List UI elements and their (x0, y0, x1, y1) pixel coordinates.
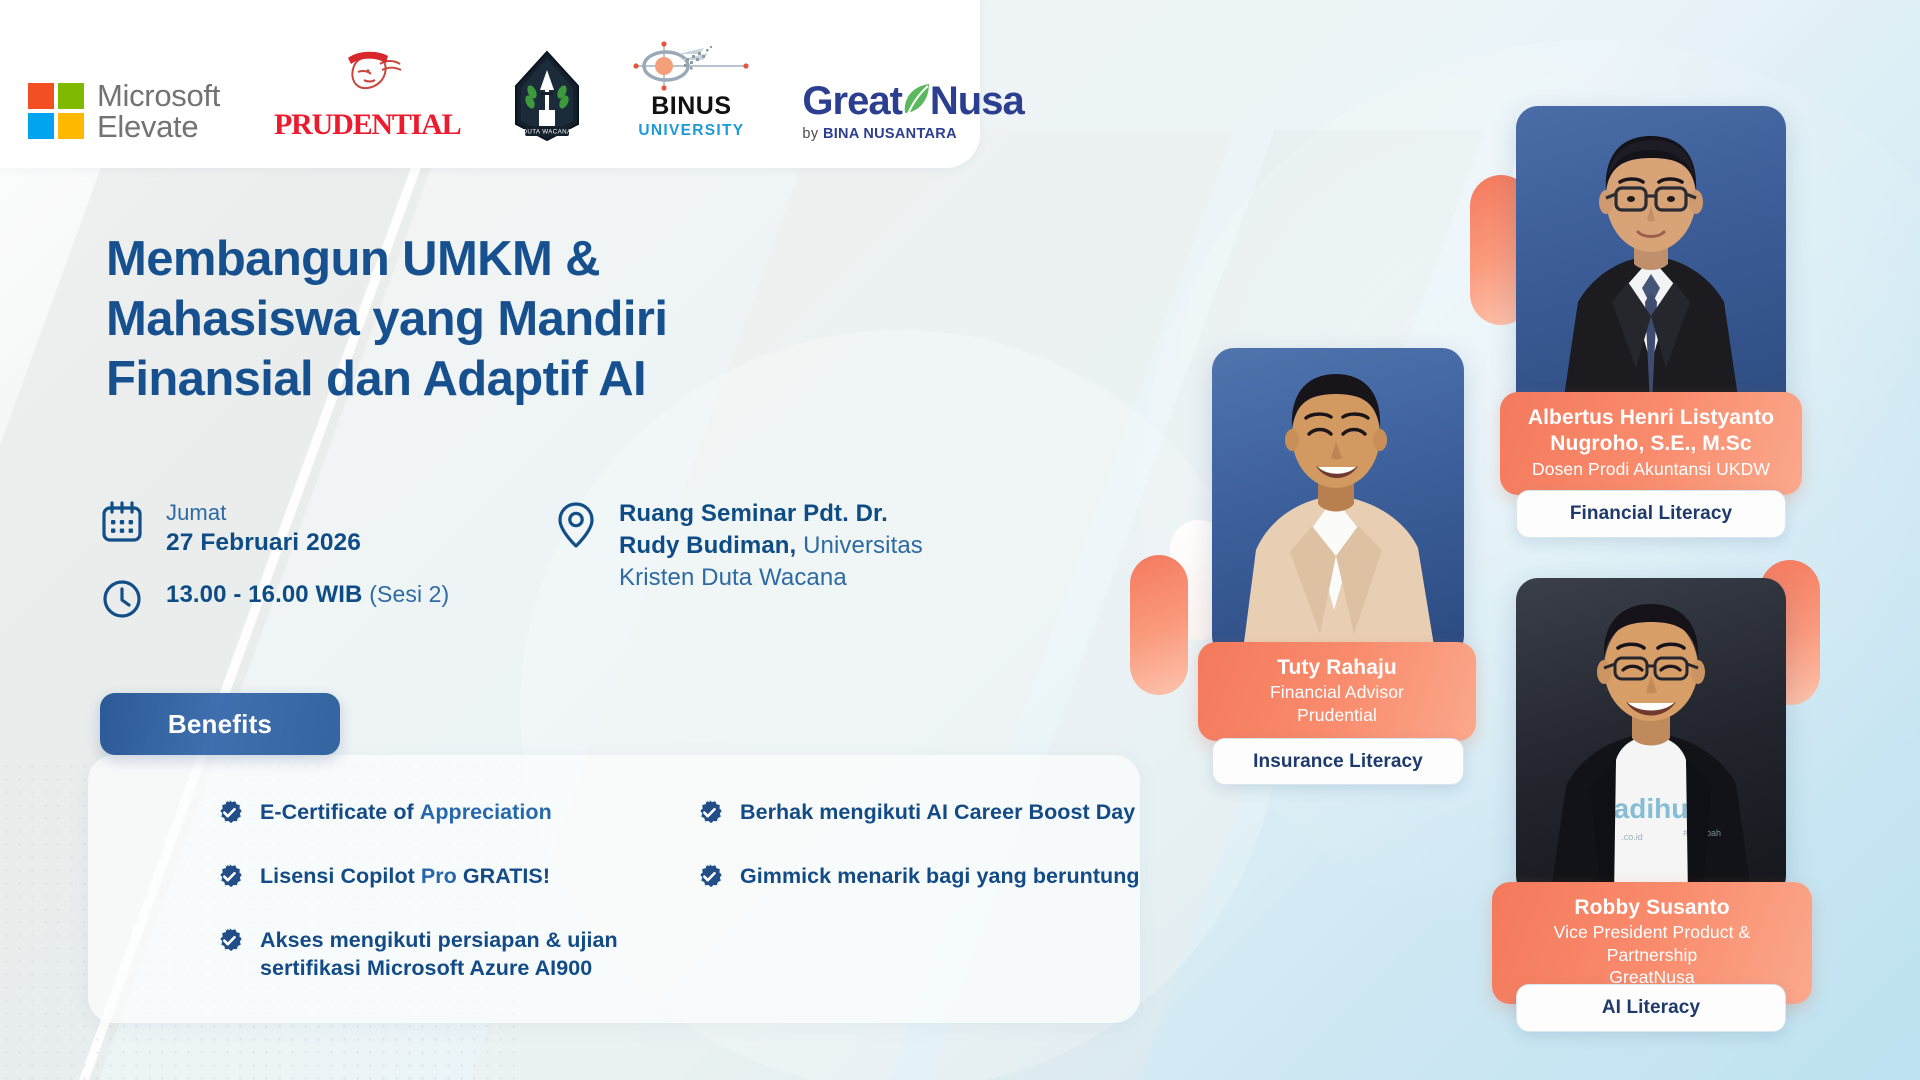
speaker-nameplate-albertus: Albertus Henri Listyanto Nugroho, S.E., … (1500, 392, 1802, 495)
greatnusa-tagline: by BINA NUSANTARA (802, 126, 956, 142)
benefits-title: Benefits (168, 709, 272, 740)
speaker-topic: Insurance Literacy (1253, 751, 1423, 773)
greatnusa-word-nusa: Nusa (930, 79, 1024, 123)
event-date: 27 Februari 2026 (166, 527, 361, 560)
greatnusa-wordmark: Great Nusa (802, 80, 1023, 121)
check-badge-icon (216, 799, 243, 831)
partner-logo-bar: Microsoft Elevate PRUDENTIAL (0, 0, 980, 168)
speaker-role-line-2: Prudential (1208, 704, 1466, 726)
greatnusa-word-great: Great (802, 79, 902, 123)
clock-icon (100, 577, 144, 626)
binus-logo: BINUS UNIVERSITY (630, 40, 752, 142)
benefit-text-pre: Gimmick menarik bagi yang beruntung (740, 864, 1140, 888)
benefit-item: Akses mengikuti persiapan & ujian sertif… (216, 925, 696, 983)
benefits-list: E-Certificate of Appreciation Lisensi Co… (88, 755, 1140, 1023)
event-time-row: 13.00 - 16.00 WIB (Sesi 2) (100, 575, 449, 626)
speaker-nameplate-tuty: Tuty Rahaju Financial Advisor Prudential (1198, 642, 1476, 741)
benefit-item: Berhak mengikuti AI Career Boost Day (696, 797, 1166, 831)
location-pin-icon (555, 500, 597, 555)
headline-line-2: Mahasiswa yang Mandiri (106, 290, 986, 350)
binus-orbit-icon (630, 40, 752, 92)
binus-wordmark: BINUS (651, 94, 731, 119)
speaker-name-line-1: Robby Susanto (1502, 895, 1802, 921)
speaker-topic: Financial Literacy (1570, 503, 1732, 525)
benefit-item: E-Certificate of Appreciation (216, 797, 696, 831)
prudential-wordmark: PRUDENTIAL (274, 108, 460, 142)
speaker-role-line-2: Partnership (1502, 944, 1802, 966)
benefit-text: Lisensi Copilot Pro GRATIS! (260, 861, 550, 890)
speaker-topic-badge-albertus: Financial Literacy (1516, 490, 1786, 538)
ukdw-logo: DUTA WACANA (508, 50, 586, 142)
microsoft-squares-icon (28, 83, 84, 139)
elevate-word: Elevate (97, 111, 220, 142)
greatnusa-tagline-pre: by (802, 126, 823, 142)
microsoft-elevate-wordmark: Microsoft Elevate (97, 80, 220, 142)
event-poster: Microsoft Elevate PRUDENTIAL (0, 0, 1920, 1080)
benefits-column-right: Berhak mengikuti AI Career Boost Day Gim… (696, 797, 1166, 925)
benefit-text: Gimmick menarik bagi yang beruntung (740, 861, 1140, 890)
event-time-value: 13.00 - 16.00 WIB (166, 581, 362, 608)
speaker-role-line-1: Dosen Prodi Akuntansi UKDW (1510, 458, 1792, 480)
ukdw-caption: DUTA WACANA (523, 129, 573, 136)
page-title: Membangun UMKM & Mahasiswa yang Mandiri … (106, 230, 986, 409)
check-badge-icon (216, 927, 243, 959)
greatnusa-tagline-bold: BINA NUSANTARA (823, 126, 957, 142)
check-badge-icon (696, 863, 723, 895)
benefit-text: Akses mengikuti persiapan & ujian sertif… (260, 925, 690, 983)
binus-university-word: UNIVERSITY (638, 119, 744, 142)
speaker-topic-badge-tuty: Insurance Literacy (1212, 738, 1464, 785)
location-line-1: Ruang Seminar Pdt. Dr. (619, 500, 888, 527)
benefit-text-pre: Akses mengikuti persiapan & ujian sertif… (260, 928, 618, 980)
benefit-text: Berhak mengikuti AI Career Boost Day (740, 797, 1135, 826)
prudential-face-icon (324, 46, 410, 108)
prudential-logo: PRUDENTIAL (274, 46, 460, 142)
microsoft-elevate-logo: Microsoft Elevate (28, 80, 220, 142)
benefit-item: Lisensi Copilot Pro GRATIS! (216, 861, 696, 895)
decoration-shape-coral-b (1130, 555, 1188, 695)
greatnusa-logo: Great Nusa by BINA NUSANTARA (802, 80, 1023, 142)
svg-text:.co.id: .co.id (1621, 832, 1643, 842)
location-line-2-rest: Universitas (796, 532, 923, 559)
speaker-role-line-1: Vice President Product & (1502, 921, 1802, 943)
speaker-photo-robby: adihu .co.id #berubah (1516, 578, 1786, 898)
event-date-text: Jumat 27 Februari 2026 (166, 498, 361, 560)
calendar-icon (100, 500, 144, 549)
location-line-3: Kristen Duta Wacana (619, 564, 847, 591)
check-badge-icon (696, 799, 723, 831)
event-date-row: Jumat 27 Februari 2026 (100, 498, 361, 560)
event-session: (Sesi 2) (369, 581, 449, 607)
headline-line-3: Finansial dan Adaptif AI (106, 350, 986, 410)
speaker-name-line-2: Nugroho, S.E., M.Sc (1510, 431, 1792, 457)
check-badge-icon (216, 863, 243, 895)
location-line-2-bold: Rudy Budiman, (619, 532, 796, 559)
microsoft-word: Microsoft (97, 80, 220, 111)
benefit-text-lite: Pro (421, 864, 463, 888)
benefit-item: Gimmick menarik bagi yang beruntung (696, 861, 1166, 895)
benefit-text: E-Certificate of Appreciation (260, 797, 552, 826)
event-day: Jumat (166, 498, 361, 527)
speaker-name-line-1: Tuty Rahaju (1208, 655, 1466, 681)
event-location-row: Ruang Seminar Pdt. Dr. Rudy Budiman, Uni… (555, 498, 923, 594)
benefit-text-pre: Berhak mengikuti AI Career Boost Day (740, 800, 1135, 824)
benefits-column-left: E-Certificate of Appreciation Lisensi Co… (216, 797, 696, 1013)
speaker-name-line-1: Albertus Henri Listyanto (1510, 405, 1792, 431)
event-time-text: 13.00 - 16.00 WIB (Sesi 2) (166, 575, 449, 611)
headline-line-1: Membangun UMKM & (106, 230, 986, 290)
ukdw-shield-icon: DUTA WACANA (508, 50, 586, 142)
speaker-photo-tuty (1212, 348, 1464, 658)
benefit-text-pre: E-Certificate of (260, 800, 420, 824)
benefits-title-badge: Benefits (100, 693, 340, 755)
benefit-text-pre: Lisensi Copilot (260, 864, 421, 888)
speaker-photo-albertus (1516, 106, 1786, 424)
speaker-topic: AI Literacy (1602, 997, 1700, 1019)
benefit-text-bold: GRATIS! (463, 864, 550, 888)
greatnusa-leaf-icon (899, 80, 933, 120)
event-location-text: Ruang Seminar Pdt. Dr. Rudy Budiman, Uni… (619, 498, 923, 594)
benefit-text-lite: Appreciation (420, 800, 552, 824)
speaker-topic-badge-robby: AI Literacy (1516, 984, 1786, 1032)
speaker-role-line-1: Financial Advisor (1208, 681, 1466, 703)
svg-text:adihu: adihu (1614, 793, 1689, 824)
